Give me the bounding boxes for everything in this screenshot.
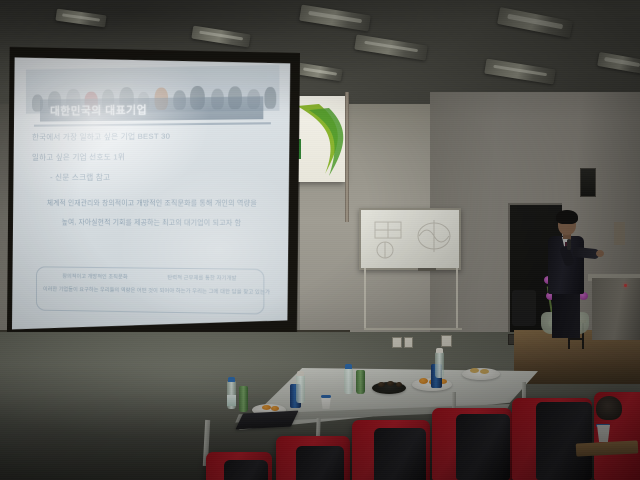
slide-bullet: 체계적 인재관리와 창의적이고 개방적인 조직문화를 통해 개인의 역량을 <box>32 197 273 208</box>
water-bottle <box>435 352 444 378</box>
food-item <box>387 381 394 386</box>
food-item <box>396 382 402 387</box>
presenter-hand <box>596 250 604 257</box>
slide-divider <box>34 122 271 126</box>
whiteboard-leg <box>364 268 366 330</box>
seat-headrest <box>374 428 426 480</box>
slide-bullet: - 신문 스크랩 참고 <box>32 171 273 183</box>
water-bottle <box>344 368 353 394</box>
presenter-legs <box>552 292 580 338</box>
food-item <box>470 368 479 373</box>
slide-body: 한국에서 가장 일하고 싶은 기업 BEST 30 일하고 싶은 기업 선호도 … <box>32 129 273 236</box>
bottle-label <box>227 395 236 406</box>
bottle-cap <box>228 377 235 382</box>
floor-outlet <box>392 337 402 348</box>
paper-cup <box>321 396 331 409</box>
slide-note-right: 탄력적 근무제를 통한 자기개발 <box>167 274 236 282</box>
water-bottle <box>296 375 305 403</box>
food-item <box>419 378 428 384</box>
slide-title-bar: 대한민국의 대표기업 <box>40 96 263 121</box>
doorway-object <box>512 290 536 326</box>
whiteboard-crossbar <box>364 328 462 330</box>
banner-pole <box>345 92 349 222</box>
paper-cup <box>597 425 610 442</box>
presentation-slide: 대한민국의 대표기업 한국에서 가장 일하고 싶은 기업 BEST 30 일하고… <box>26 65 280 327</box>
floor-outlet <box>441 335 452 347</box>
bottle-cap <box>345 364 352 369</box>
lecture-hall-photo: 수회 전략토론 한경국학대 <box>0 0 640 480</box>
whiteboard-sketch <box>371 220 407 262</box>
audience-head <box>596 396 622 420</box>
seat-headrest <box>456 414 510 480</box>
food-item <box>262 405 271 410</box>
green-beverage-bottle <box>356 370 365 394</box>
slide-note-left: 창의적이고 개방적인 조직문화 <box>62 273 127 281</box>
food-item <box>271 406 279 411</box>
whiteboard-sketch <box>413 218 455 254</box>
screen-surface: 대한민국의 대표기업 한국에서 가장 일하고 싶은 기업 BEST 30 일하고… <box>12 46 290 338</box>
presenter-hair <box>556 210 578 224</box>
floor-outlet <box>404 337 413 348</box>
slide-note-box: 창의적이고 개방적인 조직문화 탄력적 근무제를 통한 자기개발 이러한 기업들… <box>36 266 264 314</box>
food-item <box>480 369 489 374</box>
slide-note-bottom: 이러한 기업들이 요구하는 우리들의 역량은 어떤 것이 되어야 하는가 우리는… <box>43 286 257 296</box>
seat-headrest <box>536 402 592 480</box>
wall-panel <box>614 222 625 245</box>
food-item <box>378 382 385 387</box>
bottle-cap <box>297 371 304 376</box>
green-beverage-bottle <box>239 386 248 412</box>
whiteboard-marker-tray <box>418 268 436 271</box>
slide-bullet: 일하고 싶은 기업 선호도 1위 <box>32 150 273 163</box>
wall-speaker-icon <box>580 168 596 197</box>
bottle-cap <box>436 348 443 353</box>
presenter <box>540 206 600 336</box>
microphone-icon <box>567 239 571 250</box>
seat-headrest <box>224 460 268 480</box>
mobile-whiteboard <box>359 208 461 270</box>
whiteboard-leg <box>456 268 458 328</box>
projection-screen: 대한민국의 대표기업 한국에서 가장 일하고 싶은 기업 BEST 30 일하고… <box>4 37 300 350</box>
slide-bullet: 높여, 자아실현적 기회를 제공하는 최고의 대기업이 되고자 함 <box>32 216 273 227</box>
seat-headrest <box>296 446 344 480</box>
black-notebook <box>235 411 298 430</box>
slide-title: 대한민국의 대표기업 <box>50 102 147 118</box>
chevron-graphic <box>295 100 345 180</box>
paper-cup-rim <box>321 395 331 398</box>
podium-indicator-light <box>624 284 627 287</box>
slide-bullet: 한국에서 가장 일하고 싶은 기업 BEST 30 <box>32 129 273 142</box>
